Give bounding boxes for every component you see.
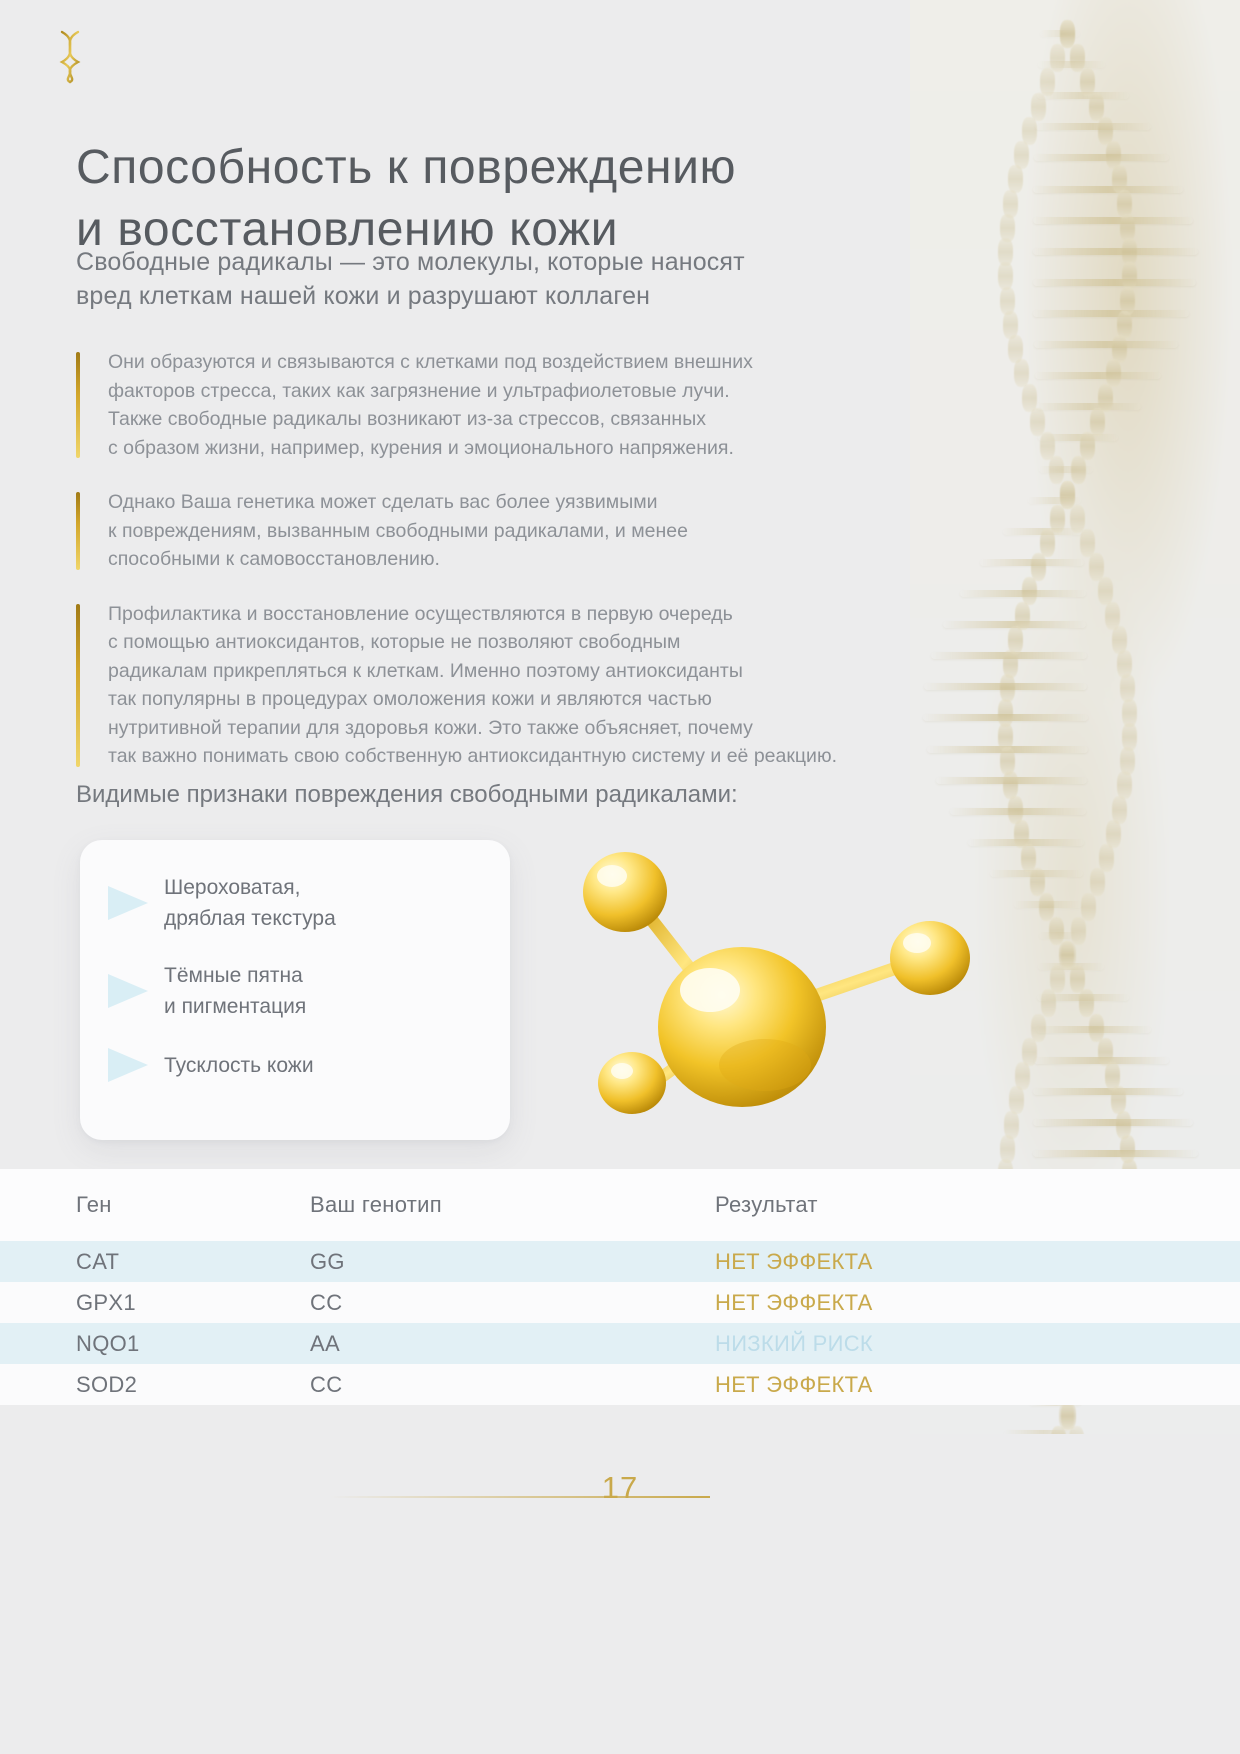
column-header-genotype: Ваш генотип: [310, 1192, 715, 1218]
cell-genotype: CC: [310, 1290, 715, 1316]
table-row: NQO1 AA НИЗКИЙ РИСК: [0, 1323, 1240, 1364]
accent-bar: [76, 604, 80, 767]
text-line: радикалам прикрепляться к клеткам. Именн…: [108, 657, 936, 686]
column-header-gene: Ген: [0, 1192, 310, 1218]
text-line: Также свободные радикалы возникают из-за…: [108, 405, 936, 434]
play-triangle-icon: [108, 886, 148, 920]
cell-gene: NQO1: [0, 1331, 310, 1357]
text-line: Однако Ваша генетика может сделать вас б…: [108, 488, 936, 517]
text-line: с помощью антиоксидантов, которые не поз…: [108, 628, 936, 657]
text-line: Тёмные пятна: [164, 960, 306, 991]
cell-result: НЕТ ЭФФЕКТА: [715, 1290, 1240, 1316]
list-item: Тусклость кожи: [108, 1048, 490, 1082]
info-block-text: Однако Ваша генетика может сделать вас б…: [108, 488, 936, 574]
list-item-label: Шероховатая, дряблая текстура: [164, 872, 336, 934]
text-line: Они образуются и связываются с клетками …: [108, 348, 936, 377]
text-line: дряблая текстура: [164, 903, 336, 934]
molecule-icon: [560, 830, 1030, 1160]
info-block-text: Профилактика и восстановление осуществля…: [108, 600, 936, 771]
accent-bar: [76, 492, 80, 570]
list-item: Шероховатая, дряблая текстура: [108, 872, 490, 934]
list-item-label: Тусклость кожи: [164, 1050, 314, 1081]
info-block-text: Они образуются и связываются с клетками …: [108, 348, 936, 462]
text-line: и пигментация: [164, 991, 306, 1022]
info-block: Они образуются и связываются с клетками …: [76, 348, 936, 462]
cell-gene: SOD2: [0, 1372, 310, 1398]
text-line: нутритивной терапии для здоровья кожи. Э…: [108, 714, 936, 743]
text-line: так популярны в процедурах омоложения ко…: [108, 685, 936, 714]
dna-helix-icon: [48, 28, 92, 84]
info-block: Профилактика и восстановление осуществля…: [76, 600, 936, 771]
cell-result: НИЗКИЙ РИСК: [715, 1331, 1240, 1357]
text-line: так важно понимать свою собственную анти…: [108, 742, 936, 771]
page-lead-line-2: вред клеткам нашей кожи и разрушают колл…: [76, 279, 956, 313]
text-line: к повреждениям, вызванным свободными рад…: [108, 517, 936, 546]
text-line: факторов стресса, таких как загрязнение …: [108, 377, 936, 406]
cell-result: НЕТ ЭФФЕКТА: [715, 1249, 1240, 1275]
cell-gene: CAT: [0, 1249, 310, 1275]
signs-list: Шероховатая, дряблая текстура Тёмные пят…: [108, 872, 490, 1082]
list-item-label: Тёмные пятна и пигментация: [164, 960, 306, 1022]
page-number: 17: [0, 1470, 1240, 1506]
signs-card: Шероховатая, дряблая текстура Тёмные пят…: [80, 840, 510, 1140]
page-title: Способность к повреждению и восстановлен…: [76, 137, 956, 261]
text-line: с образом жизни, например, курения и эмо…: [108, 434, 936, 463]
table-row: GPX1 CC НЕТ ЭФФЕКТА: [0, 1282, 1240, 1323]
info-block: Однако Ваша генетика может сделать вас б…: [76, 488, 936, 574]
genotype-table: Ген Ваш генотип Результат CAT GG НЕТ ЭФФ…: [0, 1169, 1240, 1405]
cell-gene: GPX1: [0, 1290, 310, 1316]
text-line: Тусклость кожи: [164, 1050, 314, 1081]
text-line: Шероховатая,: [164, 872, 336, 903]
text-line: способными к самовосстановлению.: [108, 545, 936, 574]
table-row: SOD2 CC НЕТ ЭФФЕКТА: [0, 1364, 1240, 1405]
text-line: Профилактика и восстановление осуществля…: [108, 600, 936, 629]
column-header-result: Результат: [715, 1192, 1240, 1218]
page-lead: Свободные радикалы — это молекулы, котор…: [76, 245, 956, 313]
signs-title: Видимые признаки повреждения свободными …: [76, 779, 976, 811]
list-item: Тёмные пятна и пигментация: [108, 960, 490, 1022]
info-blocks: Они образуются и связываются с клетками …: [76, 348, 936, 797]
report-page: Способность к повреждению и восстановлен…: [0, 0, 1240, 1754]
cell-result: НЕТ ЭФФЕКТА: [715, 1372, 1240, 1398]
cell-genotype: CC: [310, 1372, 715, 1398]
page-lead-line-1: Свободные радикалы — это молекулы, котор…: [76, 245, 956, 279]
cell-genotype: GG: [310, 1249, 715, 1275]
play-triangle-icon: [108, 974, 148, 1008]
cell-genotype: AA: [310, 1331, 715, 1357]
table-row: CAT GG НЕТ ЭФФЕКТА: [0, 1241, 1240, 1282]
play-triangle-icon: [108, 1048, 148, 1082]
accent-bar: [76, 352, 80, 458]
page-title-line-1: Способность к повреждению: [76, 137, 956, 199]
table-header-row: Ген Ваш генотип Результат: [0, 1169, 1240, 1241]
